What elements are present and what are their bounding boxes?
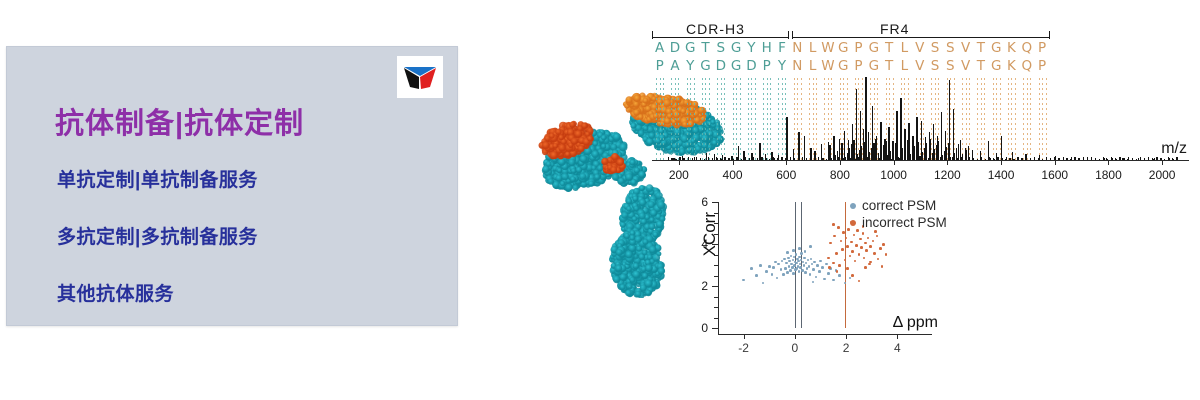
fragment-dotted-line [1030, 78, 1031, 162]
scatter-point [851, 250, 854, 253]
fragment-dotted-line [767, 78, 768, 162]
sequence-residue: D [713, 58, 728, 74]
fragment-dotted-line [782, 78, 783, 162]
spectrum-peak [841, 143, 842, 161]
scatter-point [807, 259, 810, 262]
scatter-point [798, 247, 801, 250]
scatter-point [809, 273, 812, 276]
spectrum-peak [895, 143, 896, 161]
fragment-dotted-line [770, 78, 771, 162]
legend-item-incorrect: incorrect PSM [850, 215, 947, 230]
scatter-x-tick-label: 2 [843, 341, 850, 355]
sequence-residue: H [759, 40, 774, 56]
spectrum-peak [875, 139, 876, 161]
spectrum-peak [917, 142, 918, 161]
fragment-dotted-line [660, 78, 661, 162]
fragment-dotted-line [687, 78, 688, 162]
service-panel: 抗体制备|抗体定制 单抗定制|单抗制备服务 多抗定制|多抗制备服务 其他抗体服务 [6, 46, 458, 326]
spectrum-tick-label: 400 [723, 168, 743, 182]
sequence-residue: P [851, 58, 866, 74]
scatter-point [782, 273, 785, 276]
spectrum-peak [861, 146, 862, 161]
scatter-point [872, 240, 875, 243]
spectrum-peak [839, 147, 840, 161]
spectrum-peak [946, 147, 947, 161]
scatter-threshold-line [845, 202, 846, 328]
scatter-point [787, 257, 790, 260]
service-link-list: 单抗定制|单抗制备服务 多抗定制|多抗制备服务 其他抗体服务 [57, 165, 437, 306]
scatter-point [879, 247, 882, 250]
scatter-point [792, 272, 795, 275]
spectrum-tick-label: 600 [776, 168, 796, 182]
sequence-residue: P [1034, 58, 1049, 74]
scatter-point [755, 274, 758, 277]
fragment-dotted-line [733, 78, 734, 162]
scatter-point [841, 248, 844, 251]
spectrum-peak [926, 143, 927, 161]
spectrum-peak [856, 89, 857, 161]
spectrum-peak [936, 145, 937, 161]
scatter-point [860, 246, 863, 249]
sequence-residue: P [759, 58, 774, 74]
fragment-dotted-line [977, 78, 978, 162]
mz-axis-label: m/z [1161, 140, 1187, 158]
fragment-dotted-line [969, 78, 970, 162]
scatter-point [829, 242, 832, 245]
scatter-x-axis [718, 334, 932, 335]
spectrum-peak [873, 143, 874, 161]
scatter-point [786, 251, 789, 254]
scatter-point [838, 264, 841, 267]
sequence-residue: K [1004, 58, 1019, 74]
sequence-residue: W [820, 40, 835, 56]
spectrum-peak [893, 147, 894, 161]
spectrum-peak [786, 117, 787, 161]
spectrum-tick-label: 1000 [880, 168, 907, 182]
sequence-residue: F [774, 40, 789, 56]
scatter-point [803, 264, 806, 267]
fragment-dotted-line [984, 78, 985, 162]
spectrum-tick-label: 1800 [1095, 168, 1122, 182]
scatter-point [804, 271, 807, 274]
spectrum-peak [968, 146, 969, 161]
scatter-point [828, 266, 831, 269]
spectrum-tick [679, 161, 680, 165]
scatter-point [855, 244, 858, 247]
region-label-fr4: FR4 [880, 21, 909, 37]
scatter-point [812, 281, 815, 284]
company-logo-icon [397, 56, 443, 98]
fragment-dotted-line [816, 78, 817, 162]
sequence-residue: P [851, 40, 866, 56]
scatter-point [832, 279, 835, 282]
sequence-residue: V [958, 58, 973, 74]
scatter-point [846, 245, 849, 248]
sequence-residue: L [897, 40, 912, 56]
sequence-residue: G [683, 40, 698, 56]
legend-label-incorrect: incorrect PSM [862, 215, 947, 230]
scatter-point [819, 260, 822, 263]
fragment-dotted-line [678, 78, 679, 162]
region-bar: CDR-H3 FR4 [652, 22, 1189, 40]
spectrum-tick [894, 161, 895, 165]
scatter-point [869, 245, 872, 248]
scatter-point [790, 255, 793, 258]
spectrum-tick [786, 161, 787, 165]
scatter-point [868, 263, 871, 266]
scatter-point [823, 278, 826, 281]
fragment-dotted-line [993, 78, 994, 162]
scatter-y-tick-label: 2 [692, 279, 708, 293]
scatter-point [864, 242, 867, 245]
sequence-residue: W [820, 58, 835, 74]
sequence-residue: G [698, 58, 713, 74]
sequence-residue: G [728, 40, 743, 56]
fragment-dotted-line [1027, 78, 1028, 162]
scatter-point [864, 266, 867, 269]
legend-label-correct: correct PSM [862, 198, 936, 213]
spectrum-tick-label: 1600 [1041, 168, 1068, 182]
scatter-point [788, 260, 791, 263]
scatter-point [805, 262, 808, 265]
region-label-cdrh3: CDR-H3 [686, 21, 745, 37]
scatter-point [881, 265, 884, 268]
sequence-residue: V [912, 40, 927, 56]
sequence-residue: G [836, 40, 851, 56]
spectrum-peak [929, 139, 930, 161]
spectrum-tick [1108, 161, 1109, 165]
fragment-dotted-line [675, 78, 676, 162]
scatter-point [811, 263, 814, 266]
spectrum-tick [840, 161, 841, 165]
screenshot-root: 抗体制备|抗体定制 单抗定制|单抗制备服务 多抗定制|多抗制备服务 其他抗体服务 [0, 0, 1200, 400]
scatter-point [876, 235, 879, 238]
scatter-point [858, 280, 861, 283]
service-link-other[interactable]: 其他抗体服务 [57, 279, 437, 306]
sequence-residue: N [790, 58, 805, 74]
sequence-residue: L [805, 58, 820, 74]
fragment-dotted-line [1046, 78, 1047, 162]
spectrum-peak [833, 141, 834, 161]
fragment-dotted-line [748, 78, 749, 162]
scatter-point [882, 243, 885, 246]
fragment-dotted-line [824, 78, 825, 162]
scatter-point [802, 261, 805, 264]
spectrum-peak [958, 144, 959, 161]
scatter-point [846, 267, 849, 270]
scatter-point [788, 265, 791, 268]
scatter-x-tick-label: 4 [894, 341, 901, 355]
scatter-point [818, 270, 821, 273]
sequence-row-1: ADGTSGYHFNLWGPGTLVSSVTGKQP [652, 40, 1189, 56]
fragment-dotted-line [702, 78, 703, 162]
sequence-residue: N [790, 40, 805, 56]
sequence-residue: Q [1019, 58, 1034, 74]
sequence-residue: G [866, 58, 881, 74]
fragment-dotted-line [740, 78, 741, 162]
scatter-point [877, 258, 880, 261]
spectrum-peak [948, 143, 949, 161]
scatter-point [783, 258, 786, 261]
scatter-point [765, 270, 768, 273]
sequence-residue: S [943, 58, 958, 74]
spectrum-tick-label: 1200 [934, 168, 961, 182]
scatter-point [836, 270, 839, 273]
fragment-dotted-line [709, 78, 710, 162]
spectrum-peak [914, 146, 915, 161]
scatter-point [771, 273, 774, 276]
scatter-point [865, 249, 868, 252]
fragment-dotted-line [1008, 78, 1009, 162]
scatter-point [859, 238, 862, 241]
scatter-point [838, 274, 841, 277]
spectrum-peak [851, 144, 852, 161]
sequence-residue: D [744, 58, 759, 74]
sequence-residue: G [989, 58, 1004, 74]
scatter-point [810, 258, 813, 261]
fragment-dotted-line [763, 78, 764, 162]
scatter-point [780, 268, 783, 271]
legend-swatch-correct [850, 203, 856, 209]
fragment-dotted-line [751, 78, 752, 162]
legend-item-correct: correct PSM [850, 198, 947, 213]
sequence-row-2: PAYGDGDPYNLWGPGTLVSSVTGKQP [652, 58, 1189, 74]
sequence-residue: Y [774, 58, 789, 74]
sequence-residue: T [973, 40, 988, 56]
sequence-residue: S [927, 58, 942, 74]
sequence-annotation: CDR-H3 FR4 ADGTSGYHFNLWGPGTLVSSVTGKQP PA… [652, 22, 1189, 78]
spectrum-tick-label: 200 [669, 168, 689, 182]
scatter-point [742, 279, 745, 282]
scatter-point [862, 232, 865, 235]
sequence-residue: S [713, 40, 728, 56]
scatter-x-tick [897, 334, 898, 339]
fragment-dotted-line [724, 78, 725, 162]
scatter-x-tick-label: -2 [738, 341, 749, 355]
sequence-residue: G [989, 40, 1004, 56]
spectrum-tick-label: 800 [830, 168, 850, 182]
scatter-point [851, 274, 854, 277]
sequence-residue: V [912, 58, 927, 74]
fragment-dotted-line [950, 78, 951, 162]
scatter-point [873, 252, 876, 255]
scatter-point [840, 240, 843, 243]
spectrum-peak [960, 140, 961, 161]
spectrum-peak [883, 145, 884, 161]
sequence-residue: Y [683, 58, 698, 74]
spectrum-peak [804, 136, 805, 161]
spectrum-peak [829, 145, 830, 161]
spectrum-peak [863, 142, 864, 161]
scatter-x-tick [795, 334, 796, 339]
spectrum-tick [1055, 161, 1056, 165]
service-link-polyclonal[interactable]: 多抗定制|多抗制备服务 [57, 222, 437, 249]
scatter-y-tick-label: 0 [692, 321, 708, 335]
sequence-residue: T [973, 58, 988, 74]
scatter-point [850, 241, 853, 244]
fragment-dotted-line [721, 78, 722, 162]
scatter-point [827, 257, 830, 260]
scatter-point [815, 276, 818, 279]
spectrum-peak [938, 141, 939, 161]
scatter-point [772, 266, 775, 269]
scatter-threshold-line [801, 202, 802, 328]
scatter-point [813, 261, 816, 264]
scatter-point [849, 255, 852, 258]
spectrum-tick [1001, 161, 1002, 165]
sequence-residue: S [943, 40, 958, 56]
scatter-point [845, 237, 848, 240]
scatter-point [762, 282, 765, 285]
sequence-residue: A [667, 58, 682, 74]
scatter-point [821, 266, 824, 269]
sequence-residue: T [698, 40, 713, 56]
scatter-point [784, 267, 787, 270]
fragment-dotted-line [1011, 78, 1012, 162]
sequence-residue: Y [744, 40, 759, 56]
sequence-residue: G [728, 58, 743, 74]
sequence-residue: L [897, 58, 912, 74]
fragment-dotted-line [1042, 78, 1043, 162]
spectrum-peak [941, 112, 942, 161]
sequence-residue: G [836, 58, 851, 74]
scatter-point [812, 268, 815, 271]
spectrum-tick-label: 2000 [1149, 168, 1176, 182]
scatter-point [786, 271, 789, 274]
spectrum-peak [924, 148, 925, 161]
sequence-residue: S [927, 40, 942, 56]
spectrum-peak [905, 144, 906, 161]
scatter-point [832, 262, 835, 265]
fragment-dotted-line [996, 78, 997, 162]
scatter-x-tick [846, 334, 847, 339]
spectrum-peak [853, 140, 854, 161]
scatter-point [858, 253, 861, 256]
mass-spectrum-chart: 200400600800100012001400160018002000 m/z [652, 78, 1189, 170]
scatter-point [768, 265, 771, 268]
service-link-monoclonal[interactable]: 单抗定制|单抗制备服务 [57, 165, 437, 192]
fragment-dotted-line [755, 78, 756, 162]
scatter-point [835, 252, 838, 255]
sequence-residue: Q [1019, 40, 1034, 56]
sequence-residue: L [805, 40, 820, 56]
scatter-x-tick [744, 334, 745, 339]
scatter-point [804, 250, 807, 253]
fragment-dotted-line [962, 78, 963, 162]
sequence-residue: V [958, 40, 973, 56]
sequence-residue: D [667, 40, 682, 56]
sequence-residue: K [1004, 40, 1019, 56]
sequence-residue: G [866, 40, 881, 56]
scatter-point [825, 263, 828, 266]
fragment-dotted-line [671, 78, 672, 162]
scatter-point [842, 231, 845, 234]
scatter-point [798, 270, 801, 273]
scatter-point [853, 234, 856, 237]
scatter-y-tick-label: 4 [692, 237, 708, 251]
sequence-residue: T [881, 58, 896, 74]
scatter-point [792, 249, 795, 252]
fragment-dotted-line [1023, 78, 1024, 162]
spectrum-tick [733, 161, 734, 165]
scatter-point [785, 262, 788, 265]
scatter-x-tick-label: 0 [792, 341, 799, 355]
spectrum-peak [798, 132, 799, 161]
scatter-point [795, 253, 798, 256]
scatter-point [800, 252, 803, 255]
fragment-dotted-line [690, 78, 691, 162]
sequence-residue: A [652, 40, 667, 56]
xcorr-scatter-chart: XCorr Δ ppm 0246 -2024 correct PSM incor… [690, 196, 942, 361]
sequence-residue: P [652, 58, 667, 74]
spectrum-peak [907, 140, 908, 161]
scatter-point [832, 223, 835, 226]
scatter-point [808, 265, 811, 268]
fragment-dotted-line [1039, 78, 1040, 162]
page-title: 抗体制备|抗体定制 [55, 100, 304, 142]
scatter-point [867, 237, 870, 240]
scatter-point [833, 235, 836, 238]
fragment-dotted-line [736, 78, 737, 162]
scatter-legend: correct PSM incorrect PSM [850, 198, 947, 232]
fragment-dotted-line [656, 78, 657, 162]
scatter-point [798, 256, 801, 259]
sequence-residue: T [881, 40, 896, 56]
spectrum-peak [885, 141, 886, 161]
fragment-dotted-line [778, 78, 779, 162]
scatter-point [759, 264, 762, 267]
scatter-point [803, 257, 806, 260]
spectrum-tick [947, 161, 948, 165]
fragment-dotted-line [717, 78, 718, 162]
spectrum-peak [865, 77, 866, 161]
scatter-point [750, 267, 753, 270]
spectrum-tick [1162, 161, 1163, 165]
scatter-point [837, 226, 840, 229]
scatter-point [809, 245, 812, 248]
fragment-dotted-line [813, 78, 814, 162]
spectrum-peak [871, 148, 872, 161]
scatter-y-tick-label: 6 [692, 195, 708, 209]
fragment-dotted-line [801, 78, 802, 162]
fragment-dotted-line [694, 78, 695, 162]
proteomics-figure: CDR-H3 FR4 ADGTSGYHFNLWGPGTLVSSVTGKQP PA… [500, 0, 1200, 400]
sequence-residue: P [1034, 40, 1049, 56]
fragment-dotted-line [981, 78, 982, 162]
scatter-point [863, 257, 866, 260]
scatter-point [777, 263, 780, 266]
fragment-dotted-line [705, 78, 706, 162]
scatter-point [776, 277, 779, 280]
spectrum-tick-label: 1400 [988, 168, 1015, 182]
fragment-dotted-line [663, 78, 664, 162]
scatter-y-tick [712, 328, 718, 329]
scatter-point [816, 264, 819, 267]
scatter-point [885, 253, 888, 256]
scatter-point [793, 264, 796, 267]
scatter-point [854, 260, 857, 263]
legend-swatch-incorrect [850, 220, 856, 226]
scatter-point [827, 272, 830, 275]
scatter-point [781, 260, 784, 263]
fragment-dotted-line [1015, 78, 1016, 162]
